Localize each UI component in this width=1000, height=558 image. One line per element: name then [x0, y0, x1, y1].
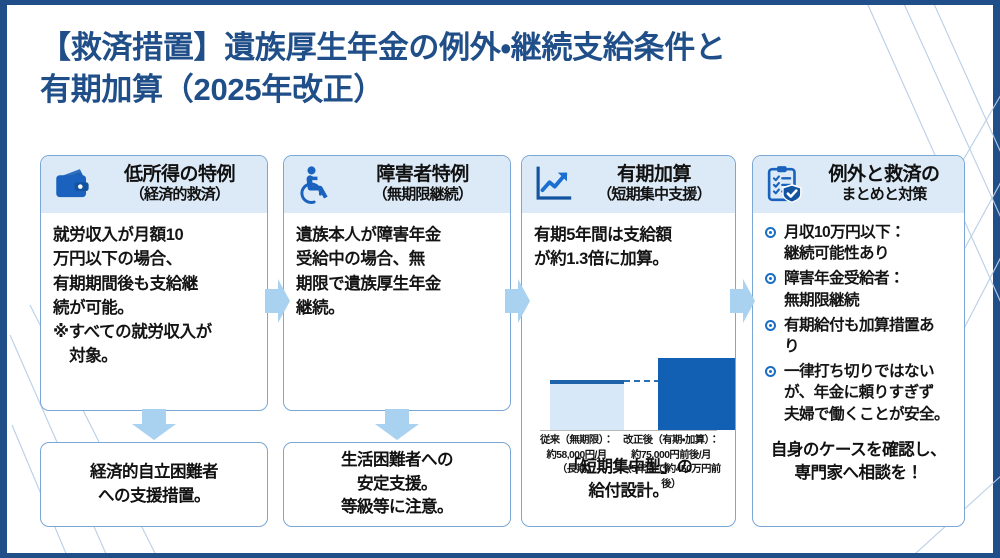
card-summary[interactable]: 例外と救済の まとめと対策 月収10万円以下： 継続可能性あり 障害年金受給者：… — [752, 155, 965, 527]
card-low-income[interactable]: 低所得の特例 （経済的救済） 就労収入が月額10 万円以下の場合、 有期期間後も… — [40, 155, 268, 411]
arrow-down-icon — [371, 409, 423, 441]
card-title: 有期加算 — [617, 164, 691, 185]
card-header: 障害者特例 （無期限継続） — [284, 156, 510, 213]
card-header-text: 障害者特例 （無期限継続） — [343, 164, 502, 204]
clipboard-shield-icon — [763, 163, 805, 205]
card-body-text: 遺族本人が障害年金 受給中の場合、無 期限で遺族厚生年金 継続。 — [284, 213, 510, 328]
list-item: 一律打ち切りではない が、年金に頼りすぎず 夫婦で働くことが安全。 — [765, 361, 956, 425]
card-subtitle: まとめと対策 — [841, 186, 926, 204]
card-header: 例外と救済の まとめと対策 — [753, 156, 964, 213]
card-fixed-term-addition[interactable]: 有期加算 （短期集中支援） 有期5年間は支給額 が約1.3倍に加算。 従来（無期… — [521, 155, 736, 527]
card-header-text: 低所得の特例 （経済的救済） — [100, 164, 259, 204]
card-header-text: 例外と救済の まとめと対策 — [812, 164, 956, 204]
list-item: 有期給付も加算措置あ り — [765, 315, 956, 357]
card-subtitle: （無期限継続） — [373, 186, 472, 204]
summary-bullet-list: 月収10万円以下： 継続可能性あり 障害年金受給者： 無期限継続 有期給付も加算… — [753, 213, 964, 433]
summary-closing-text: 自身のケースを確認し、 専門家へ相談を！ — [753, 433, 964, 485]
card-body-text: 就労収入が月額10 万円以下の場合、 有期期間後も支給継 続が可能。 ※すべての… — [41, 213, 267, 377]
arrow-right-icon — [730, 275, 756, 327]
infographic-canvas: 【救済措置】遺族厚生年金の例外・継続支給条件と 有期加算（2025年改正） 低所… — [0, 0, 1000, 558]
card-disability[interactable]: 障害者特例 （無期限継続） 遺族本人が障害年金 受給中の場合、無 期限で遺族厚生… — [283, 155, 511, 411]
list-item: 障害年金受給者： 無期限継続 — [765, 268, 956, 310]
right-edge-accent-bar — [993, 5, 1000, 553]
list-item-text: 有期給付も加算措置あ り — [784, 317, 934, 355]
page-title: 【救済措置】遺族厚生年金の例外・継続支給条件と 有期加算（2025年改正） — [40, 27, 940, 111]
card-subtitle: （短期集中支援） — [597, 186, 711, 204]
card-footer-text: 「短期集中型」の 給付設計。 — [522, 456, 735, 504]
card-body-text: 有期5年間は支給額 が約1.3倍に加算。 — [522, 213, 735, 280]
card-header-text: 有期加算 （短期集中支援） — [581, 164, 727, 204]
arrow-right-icon — [505, 275, 531, 327]
card-header: 有期加算 （短期集中支援） — [522, 156, 735, 213]
arrow-down-icon — [128, 409, 180, 441]
wallet-icon — [51, 163, 93, 205]
bullet-dot-icon — [765, 320, 776, 331]
list-item-text: 月収10万円以下： 継続可能性あり — [784, 224, 905, 262]
left-edge-accent-bar — [0, 5, 7, 553]
bullet-dot-icon — [765, 273, 776, 284]
bullet-dot-icon — [765, 227, 776, 238]
card-title: 障害者特例 — [376, 164, 469, 185]
card-subtitle: （経済的救済） — [130, 186, 229, 204]
card-header: 低所得の特例 （経済的救済） — [41, 156, 267, 213]
bottom-box-support-measure[interactable]: 経済的自立困難者 への支援措置。 — [40, 442, 268, 527]
chart-bar-old — [550, 380, 624, 430]
chart-up-icon — [532, 163, 574, 205]
chart-reference-dashed-line — [624, 380, 660, 382]
list-item: 月収10万円以下： 継続可能性あり — [765, 222, 956, 264]
arrow-right-icon — [265, 275, 291, 327]
card-title: 低所得の特例 — [124, 164, 235, 185]
bullet-dot-icon — [765, 366, 776, 377]
chart-plot-area — [540, 352, 717, 431]
wheelchair-icon — [294, 163, 336, 205]
bottom-box-stable-support[interactable]: 生活困難者への 安定支援。 等級等に注意。 — [283, 442, 511, 527]
card-title: 例外と救済の — [828, 164, 939, 185]
list-item-text: 障害年金受給者： 無期限継続 — [784, 270, 904, 308]
list-item-text: 一律打ち切りではない が、年金に頼りすぎず 夫婦で働くことが安全。 — [784, 363, 949, 422]
chart-bar-new — [658, 358, 735, 430]
